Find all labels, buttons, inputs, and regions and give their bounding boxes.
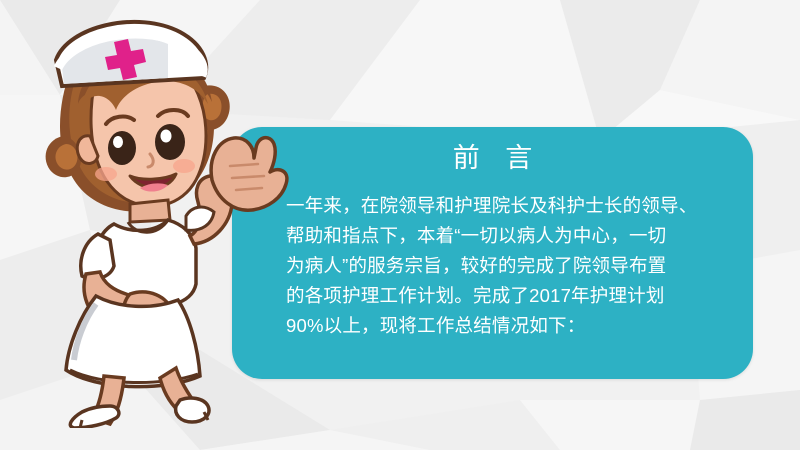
preface-line: 的各项护理工作计划。完成了2017年护理计划	[286, 281, 710, 311]
preface-body: 一年来，在院领导和护理院长及科护士长的领导、 帮助和指点下，本着“一切以病人为中…	[286, 191, 710, 341]
preface-line: 帮助和指点下，本着“一切以病人为中心，一切	[286, 221, 710, 251]
preface-title: 前 言	[232, 145, 753, 172]
preface-line: 90%以上，现将工作总结情况如下：	[286, 311, 710, 341]
cartoon-nurse-icon	[18, 8, 308, 428]
preface-card: 前 言 一年来，在院领导和护理院长及科护士长的领导、 帮助和指点下，本着“一切以…	[232, 127, 753, 379]
slide-canvas: 前 言 一年来，在院领导和护理院长及科护士长的领导、 帮助和指点下，本着“一切以…	[0, 0, 800, 450]
preface-line: 一年来，在院领导和护理院长及科护士长的领导、	[286, 191, 710, 221]
preface-line: 为病人”的服务宗旨，较好的完成了院领导布置	[286, 251, 710, 281]
